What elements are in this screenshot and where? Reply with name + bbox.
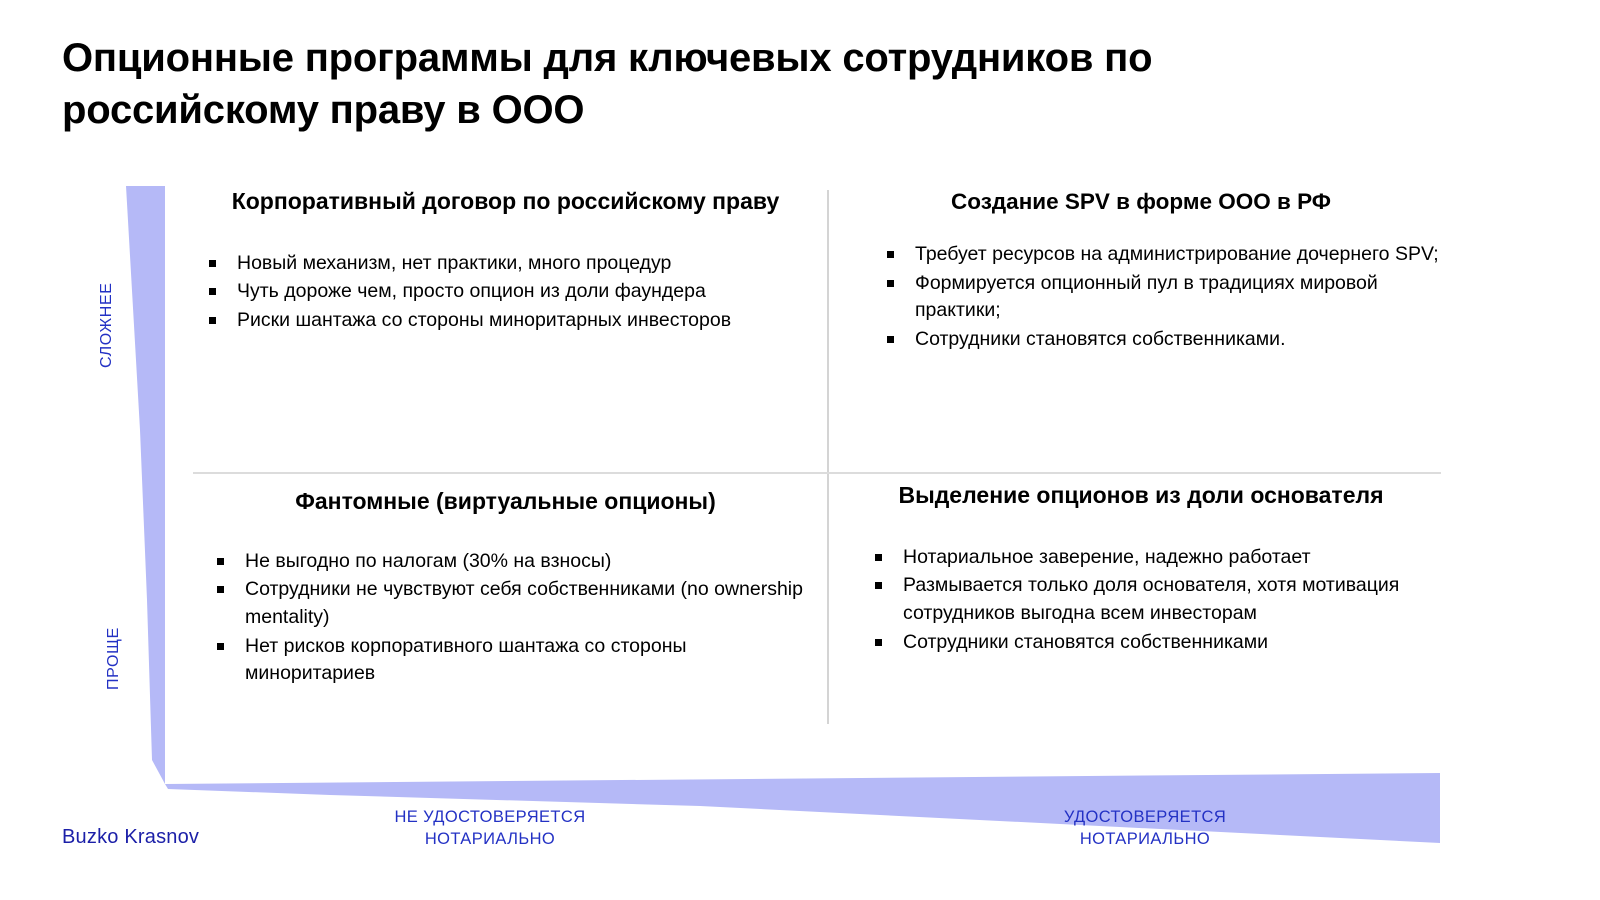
list-item-text: Новый механизм, нет практики, много проц… [237,252,671,274]
quadrant-bottom-right-title: Выделение опционов из доли основателя [841,480,1441,512]
quadrant-top-right: Создание SPV в форме ООО в РФ Требует ре… [841,186,1441,466]
list-item: Формируется опционный пул в традициях ми… [875,270,1441,325]
axis-label-notarized: УДОСТОВЕРЯЕТСЯ НОТАРИАЛЬНО [1000,806,1290,851]
list-item-text: Не выгодно по налогам (30% на взносы) [245,550,611,572]
quadrant-grid: Корпоративный договор по российскому пра… [193,186,1441,724]
quadrant-top-left-bullets: Новый механизм, нет практики, много проц… [197,250,818,335]
list-item-text: Нотариальное заверение, надежно работает [903,546,1311,568]
bullet-square-icon [217,643,224,650]
bullet-square-icon [209,317,216,324]
quadrant-top-left: Корпоративный договор по российскому пра… [193,186,818,466]
quadrant-bottom-right-bullets: Нотариальное заверение, надежно работает… [863,544,1441,657]
list-item: Не выгодно по налогам (30% на взносы) [205,548,818,576]
quadrant-top-right-title: Создание SPV в форме ООО в РФ [841,186,1441,217]
axis-label-notarized-line2: НОТАРИАЛЬНО [1000,828,1290,850]
grid-vertical-divider [827,190,829,724]
list-item-text: Формируется опционный пул в традициях ми… [915,272,1378,322]
list-item-text: Требует ресурсов на администрирование до… [915,243,1439,265]
list-item: Риски шантажа со стороны миноритарных ин… [197,307,818,335]
list-item: Нет рисков корпоративного шантажа со сто… [205,633,818,688]
list-item: Сотрудники становятся собственниками. [875,326,1441,354]
axis-label-not-notarized-line1: НЕ УДОСТОВЕРЯЕТСЯ [340,806,640,828]
vertical-axis-arrow [126,186,165,784]
list-item-text: Сотрудники становятся собственниками. [915,328,1285,350]
list-item-text: Риски шантажа со стороны миноритарных ин… [237,309,731,331]
bullet-square-icon [217,558,224,565]
bullet-square-icon [875,639,882,646]
axis-label-not-notarized: НЕ УДОСТОВЕРЯЕТСЯ НОТАРИАЛЬНО [340,806,640,851]
list-item: Новый механизм, нет практики, много проц… [197,250,818,278]
axis-label-easier: ПРОЩЕ [105,627,123,690]
list-item: Чуть дороже чем, просто опцион из доли ф… [197,278,818,306]
quadrant-bottom-left-bullets: Не выгодно по налогам (30% на взносы) Со… [205,548,818,688]
bullet-square-icon [209,260,216,267]
bullet-square-icon [875,554,882,561]
bullet-square-icon [875,582,882,589]
slide-canvas: Опционные программы для ключевых сотрудн… [0,0,1600,900]
list-item: Нотариальное заверение, надежно работает [863,544,1441,572]
list-item: Требует ресурсов на администрирование до… [875,241,1441,269]
list-item: Сотрудники не чувствуют себя собственник… [205,576,818,631]
bullet-square-icon [209,288,216,295]
bullet-square-icon [887,251,894,258]
bullet-square-icon [217,586,224,593]
list-item-text: Чуть дороже чем, просто опцион из доли ф… [237,280,706,302]
axis-label-notarized-line1: УДОСТОВЕРЯЕТСЯ [1000,806,1290,828]
list-item-text: Нет рисков корпоративного шантажа со сто… [245,635,686,685]
brand-logo-text: Buzko Krasnov [62,826,199,849]
bullet-square-icon [887,336,894,343]
axis-label-harder: СЛОЖНЕЕ [98,283,116,369]
list-item-text: Сотрудники не чувствуют себя собственник… [245,578,803,628]
bullet-square-icon [887,280,894,287]
list-item-text: Размывается только доля основателя, хотя… [903,574,1399,624]
list-item-text: Сотрудники становятся собственниками [903,631,1268,653]
grid-horizontal-divider [193,472,1441,474]
quadrant-bottom-left-title: Фантомные (виртуальные опционы) [193,486,818,518]
quadrant-bottom-right: Выделение опционов из доли основателя Но… [841,480,1441,724]
axis-label-not-notarized-line2: НОТАРИАЛЬНО [340,828,640,850]
list-item: Размывается только доля основателя, хотя… [863,572,1441,627]
list-item: Сотрудники становятся собственниками [863,629,1441,657]
quadrant-top-right-bullets: Требует ресурсов на администрирование до… [875,241,1441,354]
quadrant-bottom-left: Фантомные (виртуальные опционы) Не выгод… [193,486,818,724]
quadrant-top-left-title: Корпоративный договор по российскому пра… [193,186,818,218]
